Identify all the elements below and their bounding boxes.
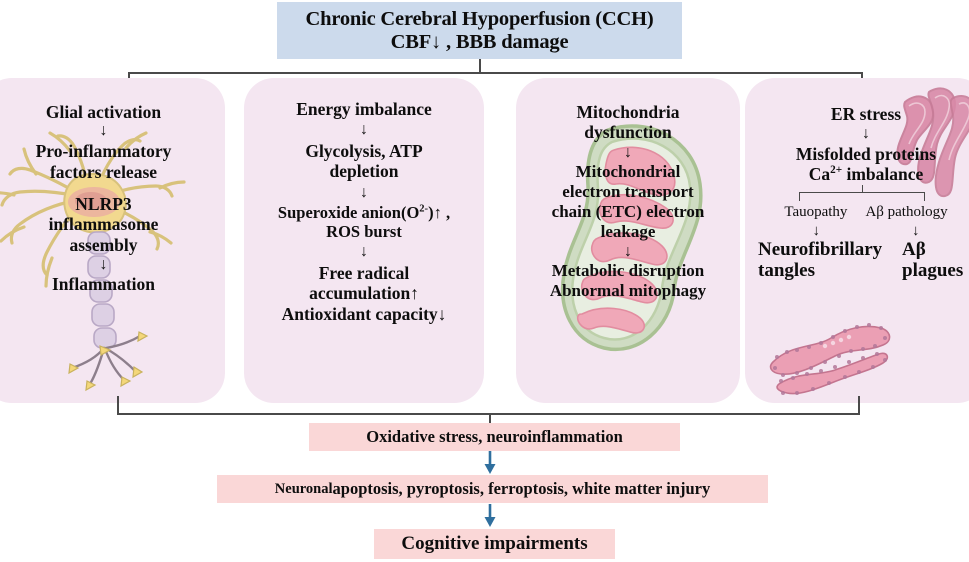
energy-arrow-3-icon: ↓ (244, 244, 484, 259)
panel-mitochondria-dysfunction: Mitochondria dysfunction ↓ Mitochondrial… (516, 78, 740, 403)
mito-line-2b: electron transport (516, 182, 740, 202)
glial-line-3b: inflammasome (0, 214, 225, 234)
mito-line-2a: Mitochondrial (516, 162, 740, 182)
er-outcome-row: Neurofibrillary tangles Aβ plagues (745, 240, 969, 282)
er-subtype-row: Tauopathy Aβ pathology (745, 204, 969, 222)
glial-arrow-2-icon: ↓ (0, 257, 225, 272)
mito-line-1b: dysfunction (516, 122, 740, 142)
blue-arrow-2-icon (483, 504, 497, 528)
mito-line-2d: leakage (516, 222, 740, 242)
outcome-box-neuronal-lead: Neuronal (275, 481, 333, 498)
energy-line-4b: accumulation↑ (244, 283, 484, 303)
header-title-line2: CBF↓ , BBB damage (391, 31, 569, 54)
mito-line-2c: chain (ETC) electron (516, 202, 740, 222)
mito-arrow-1-icon: ↓ (516, 145, 740, 160)
energy-line-2b: depletion (244, 161, 484, 181)
outcome-box-cognitive-impairments: Cognitive impairments (374, 529, 615, 559)
er-subtype-abeta: Aβ pathology (865, 204, 947, 222)
energy-arrow-2-icon: ↓ (244, 185, 484, 200)
er-line-1: ER stress (745, 104, 969, 124)
er-subtype-tauopathy: Tauopathy (784, 204, 847, 222)
energy-line-1: Energy imbalance (244, 99, 484, 119)
header-box-cch: Chronic Cerebral Hypoperfusion (CCH) CBF… (277, 2, 682, 59)
er-outcome-plaques-line2: plagues (902, 261, 969, 282)
outcome-box-neuronal-rest: apoptosis, pyroptosis, ferroptosis, whit… (333, 479, 711, 499)
er-line-2b: Ca2+ imbalance (745, 164, 969, 184)
glial-line-2a: Pro-inflammatory (0, 141, 225, 161)
panel-glial-activation: Glial activation ↓ Pro-inflammatory fact… (0, 78, 225, 403)
glial-line-3a: NLRP3 (0, 194, 225, 214)
sub-bracket (745, 185, 969, 203)
energy-line-3b: ROS burst (244, 222, 484, 241)
er-arrow-right-icon: ↓ (912, 224, 920, 238)
glial-line-3c: assembly (0, 235, 225, 255)
energy-line-3a: Superoxide anion(O2-)↑ , (244, 203, 484, 222)
er-subtype-arrows: ↓ ↓ (745, 224, 969, 238)
header-title-line1: Chronic Cerebral Hypoperfusion (CCH) (306, 8, 654, 31)
er-outcome-plaques: Aβ plagues (902, 240, 969, 282)
er-outcome-tangles-line1: Neurofibrillary (758, 240, 898, 261)
panel-energy-imbalance: Energy imbalance ↓ Glycolysis, ATP deple… (244, 78, 484, 403)
energy-line-4c: Antioxidant capacity↓ (244, 304, 484, 324)
diagram-canvas: Chronic Cerebral Hypoperfusion (CCH) CBF… (0, 0, 969, 562)
glial-line-1: Glial activation (0, 102, 225, 122)
panel-mitochondria-text: Mitochondria dysfunction ↓ Mitochondrial… (516, 78, 740, 301)
mito-line-1a: Mitochondria (516, 102, 740, 122)
outcome-box-neuronal-injury: Neuronal apoptosis, pyroptosis, ferropto… (217, 475, 768, 503)
er-arrow-1-icon: ↓ (745, 126, 969, 141)
energy-arrow-1-icon: ↓ (244, 122, 484, 137)
mito-arrow-2-icon: ↓ (516, 244, 740, 259)
panel-glial-text: Glial activation ↓ Pro-inflammatory fact… (0, 78, 225, 295)
panel-energy-text: Energy imbalance ↓ Glycolysis, ATP deple… (244, 78, 484, 324)
energy-line-4a: Free radical (244, 263, 484, 283)
outcome-box-cognitive-label: Cognitive impairments (401, 533, 587, 555)
er-line-2a: Misfolded proteins (745, 144, 969, 164)
glial-arrow-1-icon: ↓ (0, 123, 225, 138)
panel-er-stress: ER stress ↓ Misfolded proteins Ca2+ imba… (745, 78, 969, 403)
er-outcome-tangles: Neurofibrillary tangles (758, 240, 898, 282)
mito-line-3b: Abnormal mitophagy (516, 281, 740, 301)
er-arrow-left-icon: ↓ (813, 224, 821, 238)
outcome-box-oxidative-stress: Oxidative stress, neuroinflammation (309, 423, 680, 451)
neurofibrillary-tangle-icon (763, 314, 913, 400)
er-outcome-plaques-line1: Aβ (902, 240, 969, 261)
glial-line-2b: factors release (0, 162, 225, 182)
panel-er-text: ER stress ↓ Misfolded proteins Ca2+ imba… (745, 78, 969, 282)
blue-arrow-1-icon (483, 451, 497, 475)
energy-line-2a: Glycolysis, ATP (244, 141, 484, 161)
glial-line-4: Inflammation (0, 274, 225, 294)
outcome-box-oxidative-label: Oxidative stress, neuroinflammation (366, 427, 623, 447)
er-outcome-tangles-line2: tangles (758, 261, 898, 282)
mito-line-3a: Metabolic disruption (516, 261, 740, 281)
